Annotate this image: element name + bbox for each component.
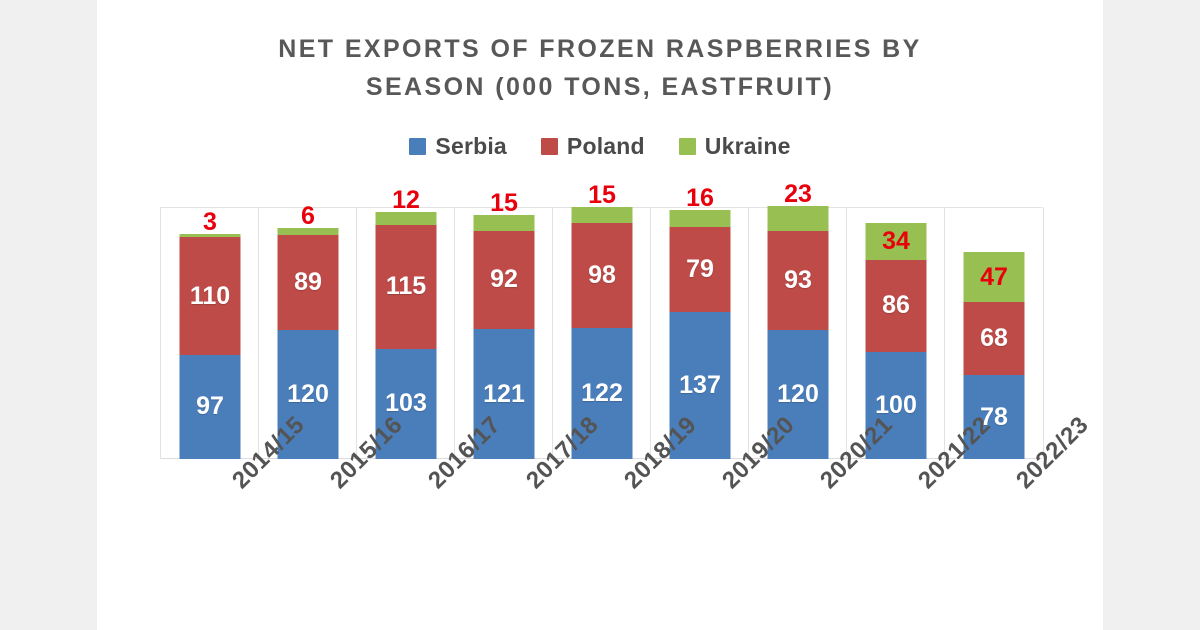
- bar-value-label: 120: [287, 382, 329, 407]
- bar-value-label: 92: [490, 267, 518, 292]
- chart-title-line-1: NET EXPORTS OF FROZEN RASPBERRIES BY: [97, 30, 1103, 68]
- bar-segment-ukraine[interactable]: 23: [768, 206, 829, 231]
- bar-segment-poland[interactable]: 68: [964, 302, 1025, 375]
- bar-segment-poland[interactable]: 89: [278, 235, 339, 330]
- bar-segment-serbia[interactable]: 97: [180, 355, 241, 459]
- bar-segment-poland[interactable]: 110: [180, 237, 241, 355]
- bar-segment-poland[interactable]: 93: [768, 231, 829, 331]
- category-slot: 2393120: [748, 207, 847, 459]
- bar-segment-poland[interactable]: 115: [376, 225, 437, 348]
- legend-label: Serbia: [435, 133, 507, 160]
- bar-value-label: 137: [679, 373, 721, 398]
- legend-swatch-icon-poland: [541, 138, 558, 155]
- bar-value-label: 79: [686, 257, 714, 282]
- bar-value-label: 34: [882, 229, 910, 254]
- bar-value-label: 89: [294, 270, 322, 295]
- category-slot: 476878: [944, 207, 1044, 459]
- category-slot: 1679137: [650, 207, 749, 459]
- bar-segment-poland[interactable]: 79: [670, 227, 731, 312]
- bar-value-label: 93: [784, 268, 812, 293]
- bar-value-label: 3: [203, 210, 217, 235]
- category-slot: 3486100: [846, 207, 945, 459]
- category-slot: 311097: [160, 207, 259, 459]
- chart-title-line-2: SEASON (000 TONS, EASTFRUIT): [97, 68, 1103, 106]
- bar-value-label: 23: [784, 182, 812, 207]
- screenshot-stage: NET EXPORTS OF FROZEN RASPBERRIES BY SEA…: [0, 0, 1200, 630]
- bar-value-label: 86: [882, 293, 910, 318]
- bar-value-label: 98: [588, 263, 616, 288]
- bar-segment-poland[interactable]: 92: [474, 231, 535, 330]
- bar-value-label: 68: [980, 326, 1008, 351]
- x-axis-labels: 2014/152015/162016/172017/182018/192019/…: [160, 459, 1042, 599]
- bar-value-label: 120: [777, 382, 819, 407]
- bar-value-label: 47: [980, 265, 1008, 290]
- chart-card: NET EXPORTS OF FROZEN RASPBERRIES BY SEA…: [97, 0, 1103, 630]
- bar-segment-ukraine[interactable]: 15: [474, 215, 535, 231]
- bar-value-label: 122: [581, 381, 623, 406]
- bar-value-label: 15: [490, 191, 518, 216]
- legend-item-serbia[interactable]: Serbia: [409, 133, 507, 160]
- legend-label: Poland: [567, 133, 645, 160]
- bar-value-label: 103: [385, 391, 427, 416]
- category-slot: 689120: [258, 207, 357, 459]
- bar-value-label: 12: [392, 188, 420, 213]
- category-slot: 1592121: [454, 207, 553, 459]
- legend-swatch-icon-serbia: [409, 138, 426, 155]
- bar-segment-ukraine[interactable]: 15: [572, 207, 633, 223]
- bar-segment-ukraine[interactable]: 34: [866, 223, 927, 259]
- chart-legend: SerbiaPolandUkraine: [97, 133, 1103, 160]
- bar-segment-poland[interactable]: 86: [866, 260, 927, 352]
- bar-segment-poland[interactable]: 98: [572, 223, 633, 328]
- bar-segment-ukraine[interactable]: 47: [964, 252, 1025, 302]
- category-slot: 12115103: [356, 207, 455, 459]
- bar-value-label: 97: [196, 394, 224, 419]
- bar-value-label: 121: [483, 382, 525, 407]
- bar-value-label: 15: [588, 183, 616, 208]
- chart-title: NET EXPORTS OF FROZEN RASPBERRIES BY SEA…: [97, 30, 1103, 106]
- legend-swatch-icon-ukraine: [679, 138, 696, 155]
- legend-item-poland[interactable]: Poland: [541, 133, 645, 160]
- category-slot: 1598122: [552, 207, 651, 459]
- bar-value-label: 6: [301, 204, 315, 229]
- legend-item-ukraine[interactable]: Ukraine: [679, 133, 791, 160]
- legend-label: Ukraine: [705, 133, 791, 160]
- bar-value-label: 110: [190, 284, 230, 309]
- stacked-bar[interactable]: 311097: [180, 234, 241, 459]
- bar-segment-ukraine[interactable]: 16: [670, 210, 731, 227]
- bar-value-label: 16: [686, 186, 714, 211]
- bar-value-label: 115: [386, 274, 426, 299]
- bar-segment-ukraine[interactable]: 12: [376, 212, 437, 225]
